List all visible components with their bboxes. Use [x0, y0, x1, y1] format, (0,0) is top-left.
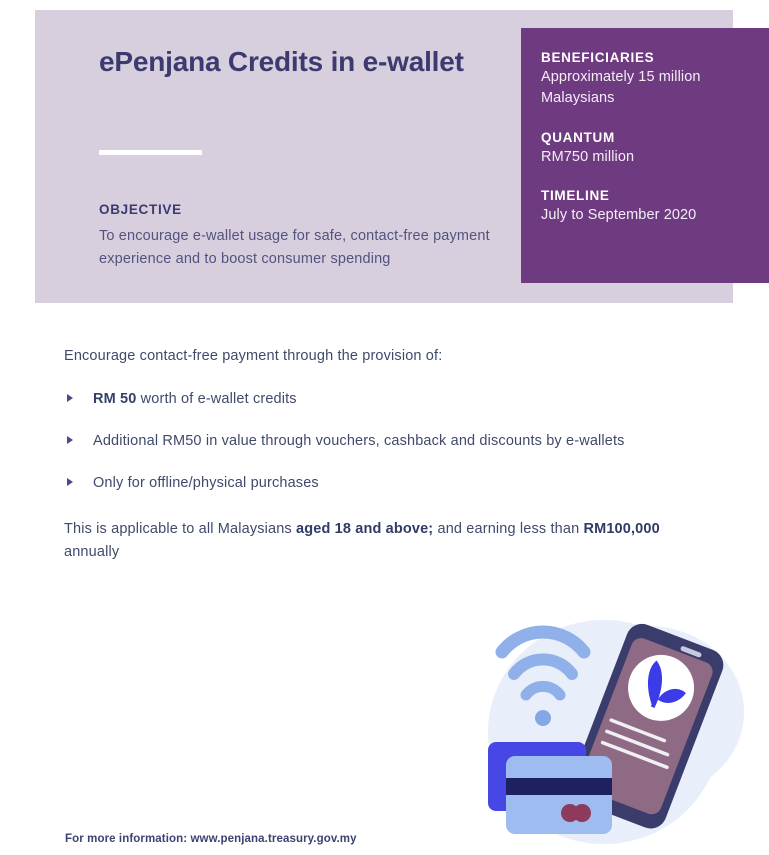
list-item: Additional RM50 in value through voucher… [64, 431, 704, 452]
triangle-bullet-icon [67, 478, 73, 486]
triangle-bullet-icon [67, 394, 73, 402]
bullet-text: worth of e-wallet credits [136, 391, 296, 407]
triangle-bullet-icon [67, 436, 73, 444]
fact-label: QUANTUM [541, 130, 769, 145]
page-title: ePenjana Credits in e-wallet [99, 43, 529, 80]
closing-part-2: and earning less than [433, 521, 583, 537]
fact-timeline: TIMELINE July to September 2020 [541, 188, 769, 226]
objective-text: To encourage e-wallet usage for safe, co… [99, 225, 537, 272]
fact-value: July to September 2020 [541, 205, 749, 226]
key-facts-panel: BENEFICIARIES Approximately 15 million M… [521, 28, 769, 283]
fact-quantum: QUANTUM RM750 million [541, 130, 769, 168]
fact-value: Approximately 15 million Malaysians [541, 67, 749, 110]
closing-part-1: This is applicable to all Malaysians [64, 521, 296, 537]
footer-note: For more information: www.penjana.treasu… [65, 833, 357, 845]
objective-label: OBJECTIVE [99, 202, 182, 217]
ewallet-mobile-payment-illustration [452, 592, 752, 855]
bullet-strong: RM 50 [93, 391, 136, 407]
list-item: RM 50 worth of e-wallet credits [64, 389, 704, 410]
card-magnetic-stripe-icon [506, 778, 612, 795]
eligibility-note: This is applicable to all Malaysians age… [64, 518, 664, 564]
fact-beneficiaries: BENEFICIARIES Approximately 15 million M… [541, 50, 769, 110]
credit-card-front-icon [506, 756, 612, 834]
closing-part-3: annually [64, 544, 119, 560]
fact-value: RM750 million [541, 147, 749, 168]
fact-label: TIMELINE [541, 188, 769, 203]
bullet-list: RM 50 worth of e-wallet credits Addition… [64, 389, 704, 494]
lead-text: Encourage contact-free payment through t… [64, 348, 442, 364]
list-item: Only for offline/physical purchases [64, 473, 704, 494]
epenjana-credits-infographic: ePenjana Credits in e-wallet OBJECTIVE T… [0, 0, 769, 855]
bullet-text: Only for offline/physical purchases [93, 475, 319, 491]
closing-bold-1: aged 18 and above; [296, 521, 433, 537]
closing-bold-2: RM100,000 [583, 521, 659, 537]
illustration-svg [452, 592, 752, 855]
title-divider [99, 150, 202, 155]
fact-label: BENEFICIARIES [541, 50, 769, 65]
bullet-text: Additional RM50 in value through voucher… [93, 433, 625, 449]
